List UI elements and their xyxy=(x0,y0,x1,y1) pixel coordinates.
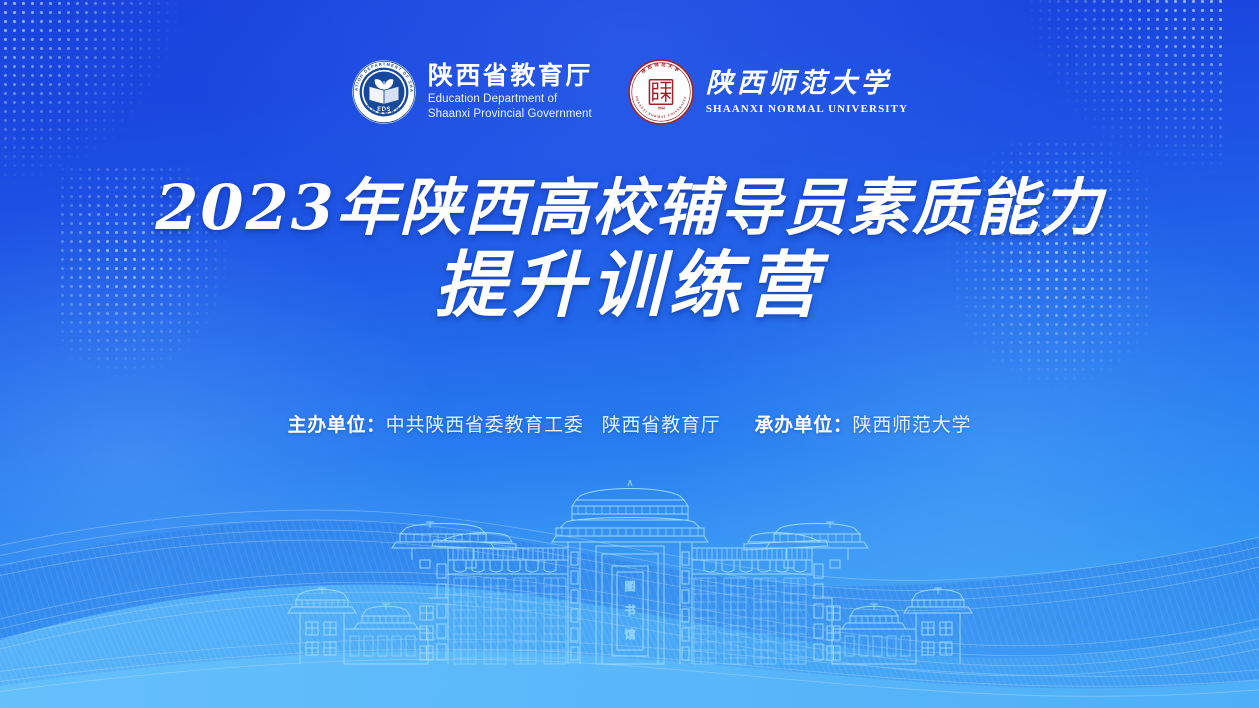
wave-layer-front xyxy=(0,651,1259,708)
library-sign-char-3: 馆 xyxy=(624,627,635,641)
shaanxi-education-department-emblem-icon: EDS EDUCATION DEPARTMENT OF SHAANXI 陕西省教… xyxy=(351,59,417,125)
library-sign-char-1: 图 xyxy=(624,580,635,593)
wave-layer-back xyxy=(0,520,1259,708)
library-sign-char-2: 书 xyxy=(624,604,635,617)
education-department-name-en-line2: Shaanxi Provincial Government xyxy=(428,108,592,120)
poster-title-line-1: 2023年陕西高校辅导员素质能力 xyxy=(0,176,1259,240)
host-label: 主办单位： xyxy=(288,410,386,437)
undertaker-label: 承办单位： xyxy=(755,410,853,437)
organizer-bar: 主办单位： 中共陕西省委教育工委 陕西省教育厅 承办单位： 陕西师范大学 xyxy=(0,410,1259,437)
wave-layer-mid xyxy=(0,585,1259,708)
library-building-svg: 图 书 馆 xyxy=(280,474,980,664)
logo-education-department: EDS EDUCATION DEPARTMENT OF SHAANXI 陕西省教… xyxy=(351,59,593,125)
poster-canvas: EDS EDUCATION DEPARTMENT OF SHAANXI 陕西省教… xyxy=(0,0,1259,708)
snnu-name-en: SHAANXI NORMAL UNIVERSITY xyxy=(706,103,908,115)
bottom-wave-svg xyxy=(0,418,1259,708)
host-value-2: 陕西省教育厅 xyxy=(602,410,721,437)
svg-text:1944: 1944 xyxy=(657,107,665,111)
poster-title: 2023年陕西高校辅导员素质能力 提升训练营 xyxy=(0,176,1259,324)
background-glow-bottom xyxy=(0,438,1259,708)
library-building-illustration: 图 书 馆 xyxy=(280,474,980,664)
education-department-name-en: Education Department of Shaanxi Provinci… xyxy=(428,92,593,121)
snnu-name-cn: 陕西师范大学 xyxy=(706,69,908,99)
undertaker-value: 陕西师范大学 xyxy=(853,410,972,437)
shaanxi-normal-university-seal-icon: 1944 陕西师范大学 SHAANXI NORMAL UNIVERSITY xyxy=(627,58,695,126)
wave-layer-mid-hatch xyxy=(0,585,1259,694)
education-department-name-cn: 陕西省教育厅 xyxy=(428,62,593,90)
wave-layer-back-hatch xyxy=(0,520,1259,648)
education-department-name-en-line1: Education Department of xyxy=(428,93,558,105)
bottom-wave-decoration xyxy=(0,418,1259,708)
poster-title-line-2: 提升训练营 xyxy=(0,246,1259,324)
host-value-1: 中共陕西省委教育工委 xyxy=(386,410,584,437)
snnu-name-block: 陕西师范大学 SHAANXI NORMAL UNIVERSITY xyxy=(706,69,908,115)
logo-bar: EDS EDUCATION DEPARTMENT OF SHAANXI 陕西省教… xyxy=(0,58,1259,126)
wave-contour-lines xyxy=(0,510,1259,696)
education-department-name-block: 陕西省教育厅 Education Department of Shaanxi P… xyxy=(428,62,593,121)
logo-shaanxi-normal-university: 1944 陕西师范大学 SHAANXI NORMAL UNIVERSITY 陕西… xyxy=(627,58,908,126)
